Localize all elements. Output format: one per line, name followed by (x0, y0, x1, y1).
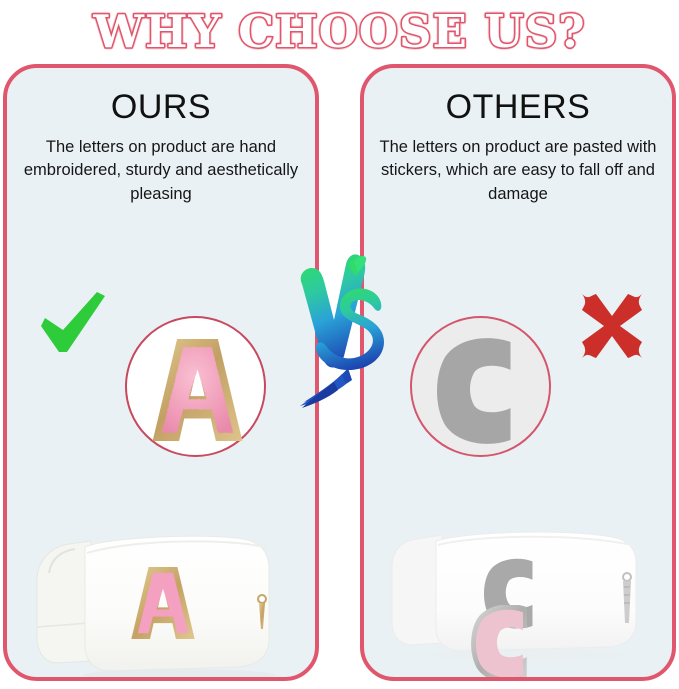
patch-preview-ours (125, 316, 266, 457)
vs-graphic: VS (294, 248, 386, 416)
letter-a-patch-icon (127, 318, 268, 459)
comparison-panel-ours: OURS The letters on product are hand emb… (3, 64, 319, 681)
patch-preview-others (410, 316, 551, 457)
page-header: WHY CHOOSE US? (0, 0, 679, 62)
cross-mark-icon (576, 290, 648, 362)
letter-c-fallen-patch-icon (468, 605, 542, 679)
letter-c-sticker-icon (412, 318, 553, 459)
check-mark-icon (37, 290, 109, 362)
panel-description-ours: The letters on product are hand embroide… (21, 136, 301, 206)
product-image-ours (29, 511, 301, 681)
panel-title-ours: OURS (7, 88, 315, 127)
page-title: WHY CHOOSE US? (93, 9, 585, 54)
panel-title-others: OTHERS (364, 88, 672, 127)
comparison-panel-others: OTHERS The letters on product are pasted… (360, 64, 676, 681)
panel-description-others: The letters on product are pasted with s… (372, 136, 664, 206)
fallen-patch-others (468, 605, 542, 679)
